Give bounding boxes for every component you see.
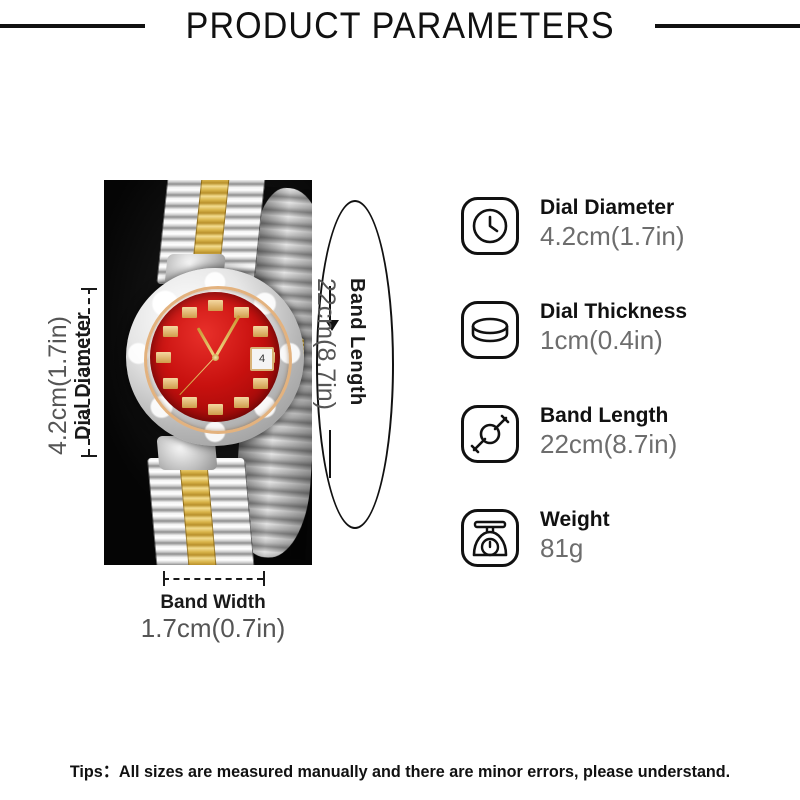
spec-value: 4.2cm(1.7in) — [540, 221, 685, 252]
dial-numeral — [208, 404, 223, 415]
spec-value: 1cm(0.4in) — [540, 325, 687, 356]
product-photo: 4 — [104, 180, 312, 565]
page-title: PRODUCT PARAMETERS — [185, 5, 614, 47]
dial-numeral — [208, 300, 223, 311]
spec-label: Dial Thickness — [540, 299, 687, 325]
dial-numeral — [162, 378, 177, 389]
dial-numeral — [182, 397, 197, 408]
dial-numeral — [182, 306, 197, 317]
spec-label: Weight — [540, 507, 610, 533]
hour-hand — [197, 327, 217, 358]
page-header: PRODUCT PARAMETERS — [0, 0, 800, 52]
second-hand — [179, 357, 215, 396]
minute-hand — [214, 315, 240, 358]
dial-diameter-cap-bottom — [81, 455, 97, 457]
dial-numeral — [162, 326, 177, 337]
weight-scale-icon — [460, 508, 520, 568]
spec-text-band-length: Band Length 22cm(8.7in) — [540, 401, 677, 460]
spec-row-dial-thickness: Dial Thickness 1cm(0.4in) — [460, 297, 760, 401]
watch-dial-icon — [460, 196, 520, 256]
band-width-dimension-line — [163, 578, 263, 580]
spec-row-dial-diameter: Dial Diameter 4.2cm(1.7in) — [460, 193, 760, 297]
band-length-value: 22cm(8.7in) — [311, 278, 340, 410]
dial-numeral — [234, 306, 249, 317]
spec-text-dial-diameter: Dial Diameter 4.2cm(1.7in) — [540, 193, 685, 252]
watch-illustration: 4 — [104, 180, 312, 565]
spec-text-dial-thickness: Dial Thickness 1cm(0.4in) — [540, 297, 687, 356]
spec-value: 81g — [540, 533, 610, 564]
band-width-cap-right — [263, 571, 265, 586]
dial-numeral — [156, 352, 171, 363]
band-width-label: Band Width — [104, 592, 322, 614]
hands-center-cap — [212, 354, 219, 361]
date-window: 4 — [250, 347, 274, 371]
dial-numeral — [234, 397, 249, 408]
spec-row-band-length: Band Length 22cm(8.7in) — [460, 401, 760, 505]
spec-label: Dial Diameter — [540, 195, 685, 221]
spec-label: Band Length — [540, 403, 677, 429]
spec-list: Dial Diameter 4.2cm(1.7in) Dial Thicknes… — [460, 193, 760, 609]
watch-dial: 4 — [150, 292, 280, 422]
spec-value: 22cm(8.7in) — [540, 429, 677, 460]
tips-note: Tips：All sizes are measured manually and… — [20, 757, 780, 782]
dial-thickness-icon — [460, 300, 520, 360]
band-width-cap-left — [163, 571, 165, 586]
dial-diameter-cap-top — [81, 288, 97, 290]
band-length-icon — [460, 404, 520, 464]
title-rule-right — [655, 24, 800, 28]
spec-row-weight: Weight 81g — [460, 505, 760, 609]
band-width-value: 1.7cm(0.7in) — [104, 613, 322, 644]
watch-case: 4 — [126, 268, 304, 446]
dial-diameter-label: Dial Diameter — [72, 312, 95, 440]
dial-numeral — [253, 378, 268, 389]
band-length-arrow-tail — [329, 430, 331, 478]
band-length-label: Band Length — [345, 278, 368, 406]
spec-text-weight: Weight 81g — [540, 505, 610, 564]
title-rule-left — [0, 24, 145, 28]
dial-numeral — [253, 326, 268, 337]
dial-diameter-value: 4.2cm(1.7in) — [44, 316, 73, 455]
